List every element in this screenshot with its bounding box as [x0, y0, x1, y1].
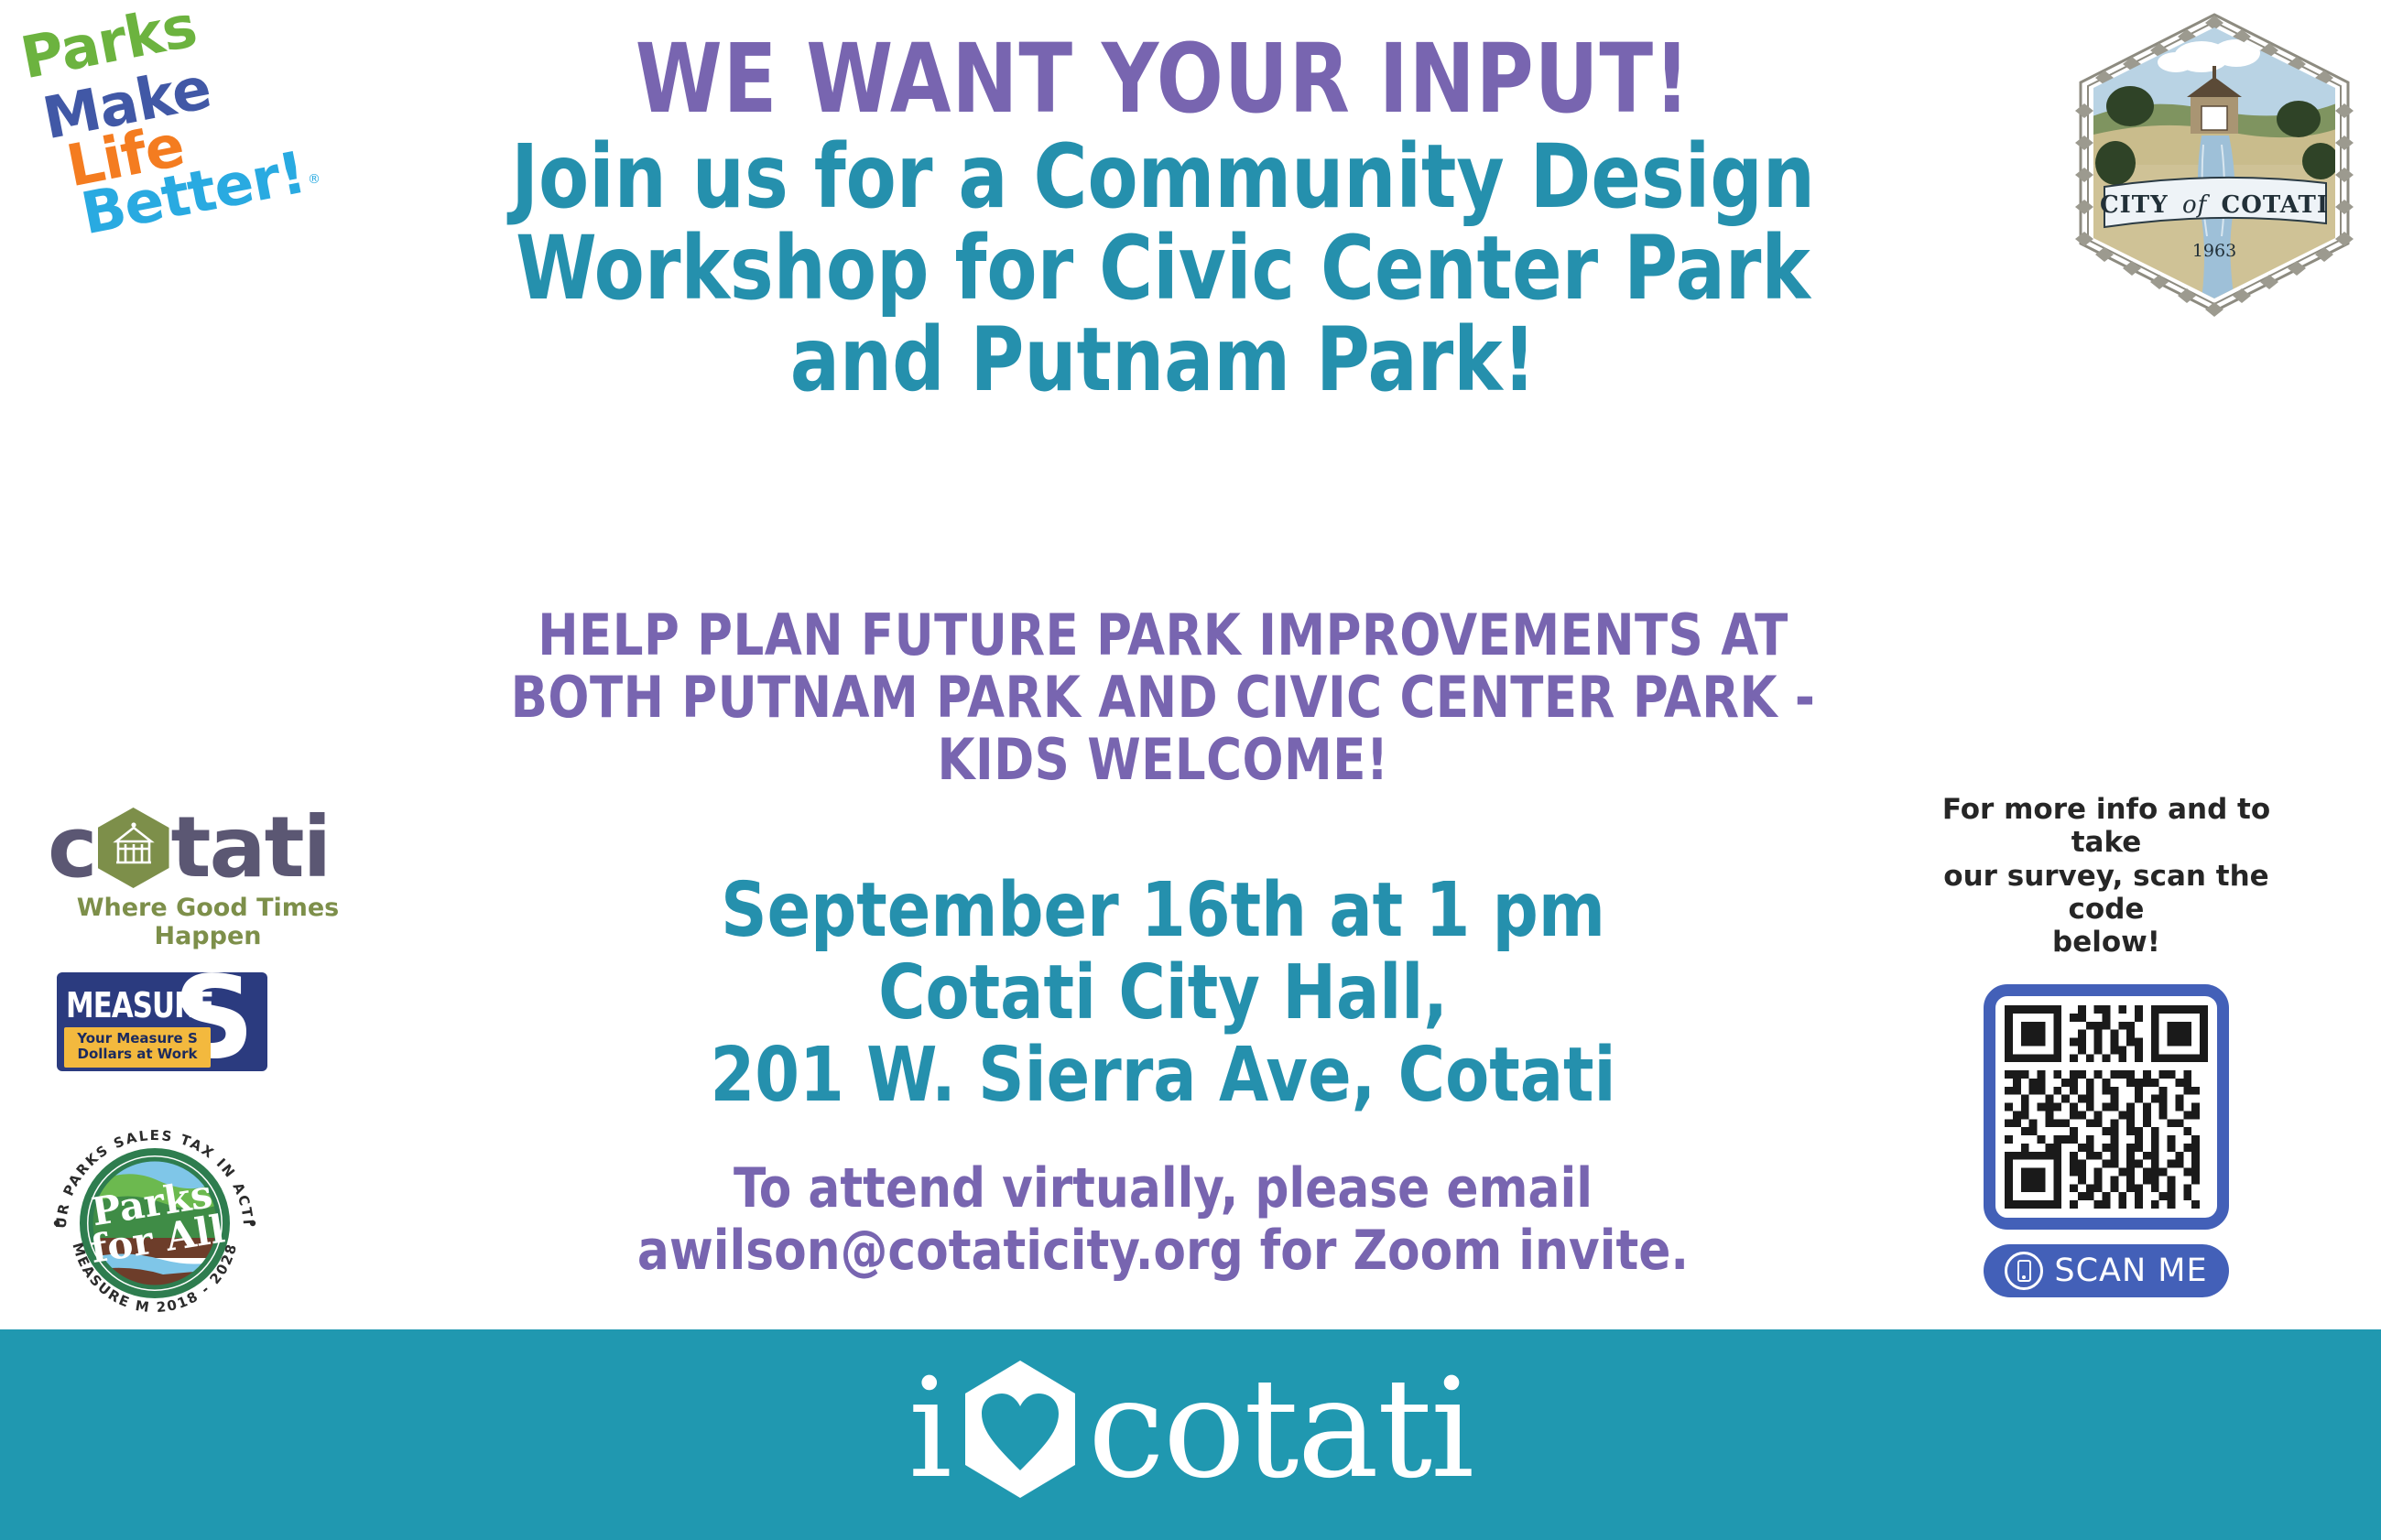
parks-make-life-better-logo: Parks Make Life Better! ®	[16, 15, 319, 234]
city-of-cotati-seal: CITY of COTATI 1963	[2064, 7, 2365, 319]
qr-caption-line-3: below!	[1914, 926, 2299, 959]
event-address: 201 W. Sierra Ave, Cotati	[320, 1035, 2007, 1117]
cotati-tagline: Where Good Times Happen	[48, 894, 368, 950]
measure-s-band: Your Measure S Dollars at Work	[64, 1027, 211, 1068]
subtitle-line-3: and Putnam Park!	[353, 315, 1972, 407]
seal-banner-city: CITY	[2100, 191, 2169, 219]
smartphone-icon	[2005, 1252, 2043, 1290]
qr-caption: For more info and to take our survey, sc…	[1914, 793, 2299, 959]
qr-panel: For more info and to take our survey, sc…	[1914, 793, 2299, 1297]
poster-flyer: Parks Make Life Better! ®	[0, 0, 2381, 1540]
virtual-line-1: To attend virtually, please email	[310, 1158, 2016, 1220]
description-line-3: KIDS WELCOME!	[320, 729, 2007, 791]
event-details-block: September 16th at 1 pm Cotati City Hall,…	[320, 870, 2007, 1118]
event-date: September 16th at 1 pm	[320, 870, 2007, 952]
virtual-email-line: awilson@cotaticity.org for Zoom invite.	[310, 1220, 2016, 1283]
event-venue: Cotati City Hall,	[320, 952, 2007, 1035]
footer-letter-i: i	[908, 1361, 952, 1498]
cotati-wordmark: c tati	[48, 806, 377, 890]
description-block: HELP PLAN FUTURE PARK IMPROVEMENTS AT BO…	[320, 604, 2007, 792]
measure-s-word: MEASURE	[66, 985, 213, 1025]
subtitle-line-2: Workshop for Civic Center Park	[353, 223, 1972, 315]
qr-caption-line-1: For more info and to take	[1914, 793, 2299, 860]
heart-icon	[962, 1357, 1079, 1502]
page-title: WE WANT YOUR INPUT!	[346, 31, 1981, 126]
qr-code[interactable]	[1984, 984, 2229, 1230]
seal-banner-cotati: COTATI	[2222, 191, 2330, 219]
measure-s-logo: S MEASURE Your Measure S Dollars at Work	[57, 972, 267, 1071]
description-line-1: HELP PLAN FUTURE PARK IMPROVEMENTS AT	[320, 604, 2007, 667]
cotati-letters-tati: tati	[171, 810, 331, 886]
qr-caption-line-2: our survey, scan the code	[1914, 860, 2299, 927]
virtual-attendance-block: To attend virtually, please email awilso…	[310, 1158, 2016, 1283]
gazebo-icon	[98, 808, 169, 888]
description-line-2: BOTH PUTNAM PARK AND CIVIC CENTER PARK -	[320, 667, 2007, 729]
headline-block: WE WANT YOUR INPUT! Join us for a Commun…	[275, 31, 2051, 406]
footer-word-cotati: cotati	[1088, 1361, 1473, 1498]
footer-banner: i cotati	[0, 1329, 2381, 1540]
cotati-letter-c: c	[48, 810, 96, 886]
measure-s-band-line-1: Your Measure S	[68, 1031, 207, 1047]
measure-s-band-line-2: Dollars at Work	[68, 1047, 207, 1063]
subtitle-block: Join us for a Community Design Workshop …	[337, 132, 1989, 406]
seal-year: 1963	[2192, 241, 2236, 261]
scan-me-button[interactable]: SCAN ME	[1984, 1244, 2229, 1297]
cotati-brand-logo: c tati Where Good Times Happen	[48, 806, 377, 950]
subtitle-line-1: Join us for a Community Design	[353, 132, 1972, 223]
scan-me-label: SCAN ME	[2054, 1255, 2207, 1287]
i-heart-cotati-logo: i cotati	[908, 1357, 1473, 1502]
seal-banner-of: of	[2182, 191, 2211, 219]
svg-text:CITY of COTATI: CITY of COTATI	[2100, 191, 2329, 219]
parks-for-all-seal: YOUR PARKS SALES TAX IN ACTION MEASURE M…	[35, 1113, 275, 1328]
